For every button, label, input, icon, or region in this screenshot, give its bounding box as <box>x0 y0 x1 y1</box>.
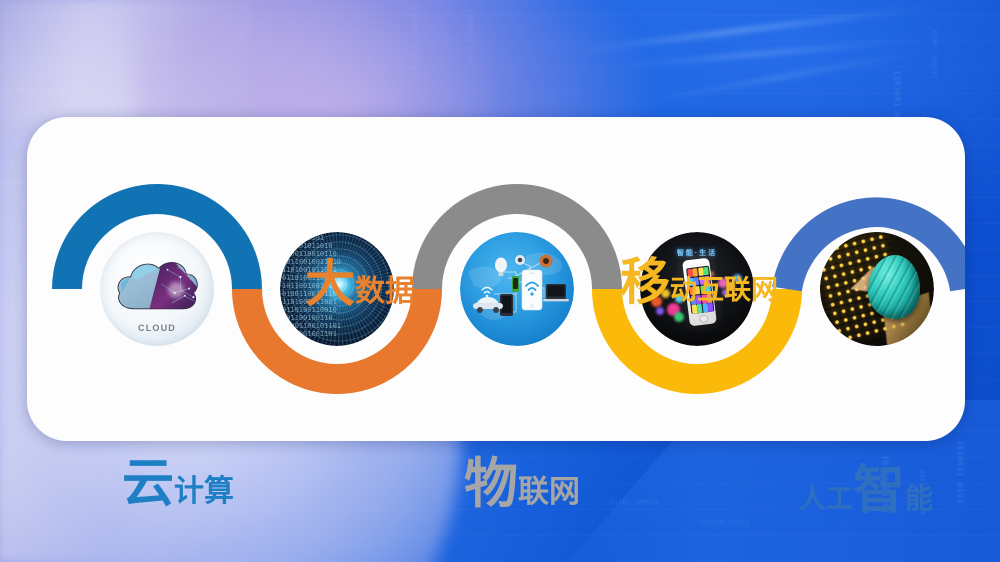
content-card: CLOUD 0110100101 101001011010 0100110010… <box>27 117 965 441</box>
brain-gyri <box>868 255 920 319</box>
label-rest: 数据 <box>355 275 415 308</box>
node-cloud-computing[interactable]: CLOUD <box>100 232 214 346</box>
label-rest: 能 <box>905 483 933 514</box>
label-emphasis: 智 <box>853 462 905 520</box>
background-code-block: 01001011 0110 <box>6 88 67 95</box>
cloud-computing-icon <box>114 255 201 312</box>
label-emphasis: 移 <box>620 254 670 310</box>
background-code-block: 01001011 0110 <box>466 10 472 63</box>
node-artificial-intelligence[interactable] <box>820 232 934 346</box>
label-emphasis: 云 <box>122 455 174 513</box>
node-internet-of-things[interactable] <box>460 232 574 346</box>
label-rest: 联网 <box>518 474 580 509</box>
ai-brain-chip-icon <box>820 232 934 346</box>
background-code-block: 110100 01011 <box>410 6 418 70</box>
label-artificial-intelligence: 人工智能 <box>799 465 933 517</box>
label-emphasis: 物 <box>464 454 518 514</box>
background-code-block: 110100 01011 <box>700 520 749 526</box>
label-internet-of-things: 物联网 <box>464 457 580 511</box>
background-code-block: 01101 100110 <box>610 500 659 506</box>
label-prefix: 人工 <box>799 484 853 514</box>
brain-shape <box>868 255 920 319</box>
label-emphasis: 大 <box>305 256 355 312</box>
background-code-block: 1010011 0101 <box>955 440 963 504</box>
label-rest: 计算 <box>174 475 234 508</box>
phone-home-button <box>699 315 708 324</box>
cloud-icon-caption: CLOUD <box>100 323 214 333</box>
poster-canvas: 01001011 0110 1101001 011010 0100 110010… <box>0 0 1000 562</box>
label-rest: 动互联网 <box>670 275 778 305</box>
label-mobile-internet: 移动互联网 <box>620 257 778 307</box>
background-code-block: 0100 1100101 <box>930 30 936 79</box>
label-cloud-computing: 云计算 <box>122 458 234 510</box>
label-big-data: 大数据 <box>305 259 415 309</box>
internet-of-things-icon <box>460 232 574 346</box>
